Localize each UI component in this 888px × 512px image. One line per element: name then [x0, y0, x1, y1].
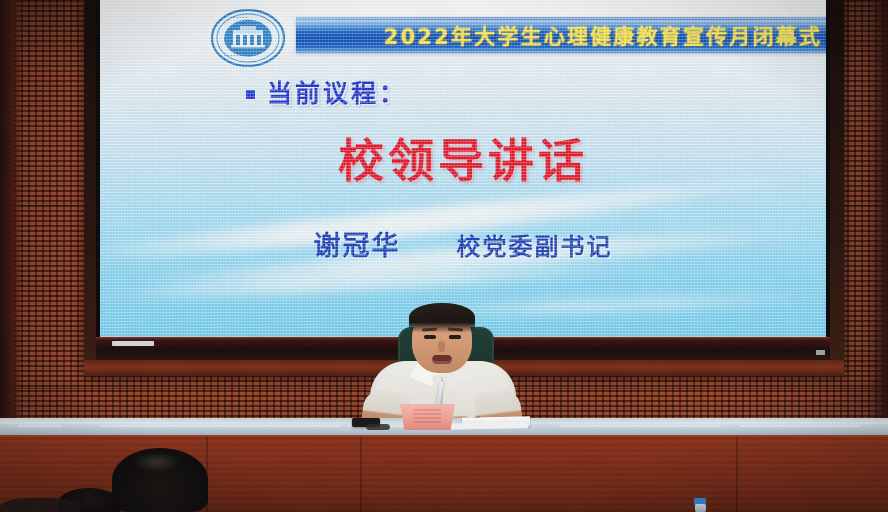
name-card-text — [413, 409, 441, 424]
speaker-name: 谢冠华 — [314, 224, 401, 263]
wall-right-shadow — [870, 0, 888, 440]
speaker-hair — [409, 303, 475, 333]
svg-text:• • • • • • • •: • • • • • • • • — [224, 54, 248, 58]
speaker-title: 校党委副书记 — [457, 227, 613, 262]
speaker-nose — [438, 341, 445, 352]
screen-bottom-tab — [112, 341, 154, 346]
speaker-eye-left — [424, 335, 436, 339]
table-panel-seam — [360, 437, 362, 512]
table-slot — [100, 425, 340, 429]
square-bullet-icon — [246, 90, 255, 99]
speaker-eye-right — [449, 335, 461, 339]
table-slot — [18, 425, 62, 429]
table-slot — [740, 425, 860, 429]
svg-text:• • • • •: • • • • • — [233, 16, 247, 20]
slide-title-text: 2022年大学生心理健康教育宣传月闭幕式 — [296, 19, 826, 53]
slide-speaker-row: 谢冠华 校党委副书记 — [100, 224, 826, 263]
eyeglasses — [366, 424, 390, 430]
slide-headline: 校领导讲话 — [100, 125, 826, 191]
audience-hair-highlight — [132, 452, 180, 472]
speaker-mouth — [432, 355, 452, 364]
agenda-label: 当前议程： — [267, 74, 407, 110]
screen-indicator — [816, 350, 825, 355]
table-slot — [560, 425, 720, 429]
projection-screen: • • • • • • • • • • • • • 2022年大学生心理健康教育… — [100, 0, 826, 337]
slide-title-banner: 2022年大学生心理健康教育宣传月闭幕式 — [296, 17, 826, 53]
cloud-streak — [100, 257, 650, 304]
water-bottle — [695, 504, 706, 512]
agenda-line: 当前议程： — [246, 74, 407, 110]
microphone-head — [432, 375, 441, 384]
wall-left-shadow — [0, 0, 22, 430]
table-panel-seam — [736, 437, 738, 512]
conference-photo: • • • • • • • • • • • • • 2022年大学生心理健康教育… — [0, 0, 888, 512]
university-emblem-icon: • • • • • • • • • • • • • — [206, 9, 291, 67]
audience-shoulder — [0, 498, 80, 512]
